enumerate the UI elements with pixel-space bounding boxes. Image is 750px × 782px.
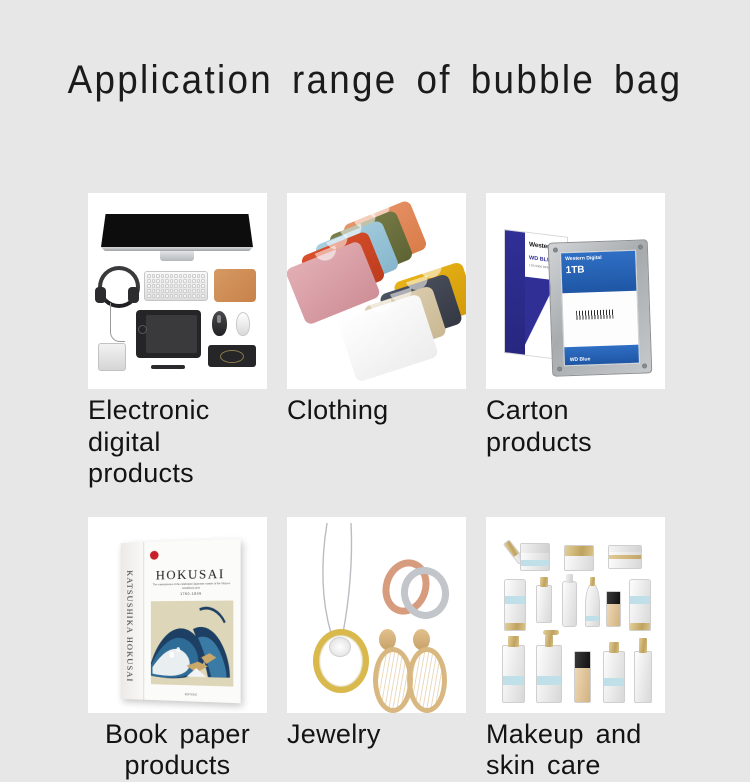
great-wave-artwork bbox=[151, 600, 233, 686]
lipstick-cap bbox=[504, 540, 519, 556]
foundation-bottle-icon bbox=[574, 651, 591, 703]
caption-carton-products: Carton products bbox=[486, 395, 665, 458]
drive-brand-label: Western Digital bbox=[565, 255, 601, 262]
grid-row: Electronic digital products Clothing bbox=[88, 193, 666, 490]
jar-gold-band bbox=[609, 555, 641, 559]
keyboard-icon bbox=[144, 271, 208, 301]
pendant-diamond-icon bbox=[329, 637, 351, 657]
caption-makeup-and-skin-care: Makeup and skin care bbox=[486, 719, 665, 782]
grid-cell-book-paper-products[interactable]: KATSUSHIKA HOKUSAI HOKUSAI The masterpie… bbox=[88, 517, 267, 782]
squeeze-tube-icon bbox=[629, 579, 651, 631]
mist-bottle-icon bbox=[562, 581, 577, 627]
tube-label-band bbox=[630, 596, 650, 604]
drive-label-footer: WD Blue bbox=[564, 345, 639, 365]
jar-label-band bbox=[521, 560, 549, 566]
caption-electronic-digital-products: Electronic digital products bbox=[88, 395, 267, 490]
hardcover-book-icon: KATSUSHIKA HOKUSAI HOKUSAI The masterpie… bbox=[121, 538, 241, 703]
stylus-pen-icon bbox=[151, 365, 185, 369]
tablet-active-area bbox=[146, 315, 197, 353]
lotion-bottle-icon bbox=[502, 645, 525, 703]
book-spine-label: KATSUSHIKA HOKUSAI bbox=[125, 570, 134, 683]
serum-dropper-icon bbox=[536, 585, 552, 623]
toner-bottle-icon bbox=[603, 651, 625, 703]
cone-cap bbox=[590, 577, 595, 586]
mist-cap bbox=[566, 574, 573, 583]
tube-label-band bbox=[505, 596, 525, 604]
grid-cell-electronic-digital-products[interactable]: Electronic digital products bbox=[88, 193, 267, 490]
bottle-cap bbox=[508, 636, 519, 647]
pump-head bbox=[543, 630, 559, 635]
spray-cap bbox=[639, 638, 647, 653]
drawing-tablet-icon bbox=[136, 310, 201, 358]
image-tile-clothing[interactable] bbox=[287, 193, 466, 389]
drive-label-header: Western Digital 1TB bbox=[561, 251, 636, 294]
headphone-right-cup-icon bbox=[128, 287, 139, 303]
cream-jar-icon bbox=[520, 543, 550, 571]
tube-cap bbox=[505, 623, 525, 630]
drive-screw-icon bbox=[553, 247, 558, 252]
caption-clothing: Clothing bbox=[287, 395, 466, 427]
foundation-bottle-icon bbox=[606, 591, 621, 627]
external-drive-icon bbox=[98, 343, 126, 371]
caption-jewelry: Jewelry bbox=[287, 719, 466, 751]
earring-right-drop-icon bbox=[407, 647, 447, 713]
drive-screw-icon bbox=[638, 244, 643, 249]
foundation-cap bbox=[607, 592, 620, 604]
mousepad-icon bbox=[214, 269, 256, 302]
drive-series-label: WD Blue bbox=[570, 356, 591, 363]
grid-cell-jewelry[interactable]: Jewelry bbox=[287, 517, 466, 782]
red-sun-dot-icon bbox=[150, 550, 159, 559]
image-tile-electronic-digital-products[interactable] bbox=[88, 193, 267, 389]
grid-cell-clothing[interactable]: Clothing bbox=[287, 193, 466, 490]
image-tile-book-paper-products[interactable]: KATSUSHIKA HOKUSAI HOKUSAI The masterpie… bbox=[88, 517, 267, 713]
bottle-label-band bbox=[503, 676, 524, 685]
accessory-pouch-icon bbox=[208, 345, 256, 367]
drive-barcode-icon bbox=[576, 310, 613, 320]
drive-screw-icon bbox=[642, 363, 647, 368]
tablet-dial-icon bbox=[138, 325, 147, 334]
drive-label: Western Digital 1TB WD Blue bbox=[560, 250, 640, 367]
jar-lid bbox=[609, 546, 641, 552]
pump-bottle-icon bbox=[536, 645, 562, 703]
pump-neck bbox=[545, 635, 553, 647]
book-publisher-label: EDITIONS bbox=[151, 692, 232, 698]
book-spine: KATSUSHIKA HOKUSAI bbox=[121, 542, 144, 699]
bottle-cap bbox=[609, 642, 619, 653]
foundation-cap bbox=[575, 652, 590, 668]
headphone-left-cup-icon bbox=[95, 287, 106, 303]
monitor-screen-icon bbox=[101, 214, 253, 247]
box-side-panel bbox=[505, 230, 525, 354]
book-subtitle-label: The masterpieces of the celebrated Japan… bbox=[151, 582, 232, 591]
dropper-cap bbox=[540, 577, 548, 587]
wireless-mouse-icon bbox=[236, 312, 250, 336]
image-tile-carton-products[interactable]: Western Digital WD BLUE 1TB 5400 RPM SAT… bbox=[486, 193, 665, 389]
hard-disk-drive-icon: Western Digital 1TB WD Blue bbox=[548, 239, 653, 376]
wide-jar-icon bbox=[608, 545, 642, 569]
cone-label-band bbox=[586, 616, 599, 621]
bottle-label-band bbox=[604, 678, 624, 686]
drive-screw-icon bbox=[557, 366, 562, 371]
cone-tube-icon bbox=[585, 583, 600, 627]
page-title: Application range of bubble bag bbox=[30, 58, 720, 103]
image-tile-jewelry[interactable] bbox=[287, 517, 466, 713]
jar-lid bbox=[565, 546, 593, 556]
product-category-grid: Electronic digital products Clothing bbox=[88, 193, 666, 782]
bottle-label-band bbox=[537, 676, 561, 685]
grid-cell-makeup-and-skin-care[interactable]: Makeup and skin care bbox=[486, 517, 665, 782]
jar-lid bbox=[521, 544, 549, 553]
caption-book-paper-products: Book paper products bbox=[88, 719, 267, 782]
grid-cell-carton-products[interactable]: Western Digital WD BLUE 1TB 5400 RPM SAT… bbox=[486, 193, 665, 490]
drive-capacity-label: 1TB bbox=[565, 265, 584, 277]
squeeze-tube-icon bbox=[504, 579, 526, 631]
tube-cap bbox=[630, 623, 650, 630]
book-year-label: 1760-1849 bbox=[151, 591, 232, 596]
slim-spray-icon bbox=[634, 651, 652, 703]
grid-row: KATSUSHIKA HOKUSAI HOKUSAI The masterpie… bbox=[88, 517, 666, 782]
headphone-cord-icon bbox=[110, 303, 125, 342]
image-tile-makeup-and-skin-care[interactable] bbox=[486, 517, 665, 713]
gold-lid-jar-icon bbox=[564, 545, 594, 571]
book-title-label: HOKUSAI bbox=[149, 565, 232, 583]
gaming-mouse-icon bbox=[212, 311, 227, 336]
monitor-stand-icon bbox=[160, 251, 194, 261]
